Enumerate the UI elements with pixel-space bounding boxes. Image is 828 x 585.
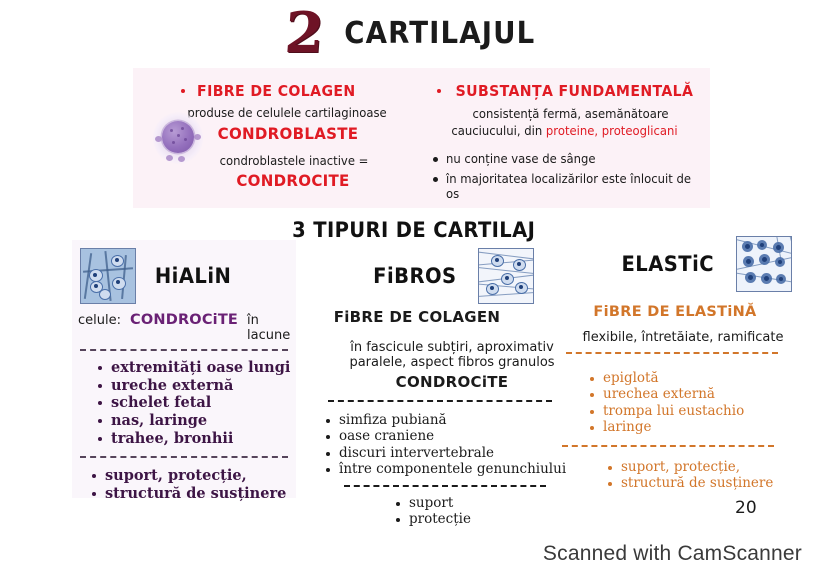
hialin-header: HiALiN [72,240,296,304]
fibre-colagen-heading-row: FIBRE DE COLAGEN [181,82,413,100]
list-item: între componentele genunchiului [326,461,586,477]
hialin-cells-row: celule: CONDROCiTE în lacune [72,304,296,343]
elastic-desc-line1: flexibile, întretăiate, ramificate [572,330,794,345]
list-item: suport, protecție, [92,467,296,485]
list-item: suport, protecție, [608,459,820,475]
condroblast-cell-icon [153,112,203,164]
substanta-bullet-2: în majoritatea localizărilor este înlocu… [433,171,710,201]
fibros-divider-1 [328,400,552,402]
condroblaste-label: CONDROBLASTE [171,124,406,143]
bullet-dot-icon [433,157,438,162]
slide-number-glyph: 2 [283,8,323,58]
fibros-subtitle: FiBRE DE COLAGEN [318,308,516,326]
list-item: suport [396,495,586,511]
page-title: 2 CARTILAJUL [0,8,828,58]
cartilaj-fibros-micrograph-icon [478,248,534,304]
hialin-cells-suffix: în lacune [247,313,296,343]
list-item: nas, laringe [98,412,296,430]
colagen-line1: produse de celulele cartilaginoase [170,105,404,120]
hialin-divider-2 [80,456,288,458]
intro-panel: FIBRE DE COLAGEN produse de celulele car… [133,68,710,208]
substanta-bullet-1: nu conține vase de sânge [433,151,710,166]
substanta-line1: consistență fermă, asemănătoare [441,106,700,121]
list-item: schelet fetal [98,394,296,412]
list-item: extremități oase lungi [98,359,296,377]
elastic-divider-2 [562,445,774,447]
condroblaste-inactive-line: condroblastele inactive = [183,153,404,168]
hialin-locations-list: extremități oase lungi ureche externă sc… [72,359,296,447]
fibros-cells-value: CONDROCiTE [318,373,586,391]
substanta-fundamentala-heading: SUBSTANȚA FUNDAMENTALĂ [456,82,694,100]
substanta-line2-prefix: cauciucului, din [451,123,546,138]
cartilaj-elastic-micrograph-icon [736,236,792,292]
fibros-title: FiBROS [370,264,460,288]
condrocite-label: CONDROCITE [180,171,406,190]
fibre-colagen-heading: FIBRE DE COLAGEN [197,82,356,100]
section-heading-text: 3 TIPURI DE CARTILAJ [292,218,535,242]
page-title-text: CARTILAJUL [344,16,535,51]
bullet-dot-icon [181,89,185,93]
hialin-cells-value: CONDROCiTE [130,312,238,328]
column-elastic: ELASTiC [590,236,820,498]
elastic-title: ELASTiC [618,252,718,276]
list-item: trahee, bronhii [98,430,296,448]
list-item: structură de susținere [608,475,820,491]
substanta-line2: cauciucului, din proteine, proteoglicani [429,123,700,138]
elastic-header: ELASTiC [590,236,820,292]
list-item: ureche externă [98,377,296,395]
fibros-divider-2 [344,485,546,487]
hialin-functions-list: suport, protecție, structură de susținer… [72,467,296,502]
intro-right-column: SUBSTANȚA FUNDAMENTALĂ consistență fermă… [413,68,710,208]
list-item: protecție [396,511,586,527]
hialin-cells-label: celule: [78,313,121,328]
bullet-dot-icon [433,177,438,182]
list-item: oase craniene [326,428,586,444]
hialin-title: HiALiN [152,264,234,288]
list-item: trompa lui eustachio [590,403,820,419]
elastic-locations-list: epiglotă urechea externă trompa lui eust… [590,370,820,436]
elastic-subtitle: FiBRE DE ELASTiNĂ [590,304,760,320]
list-item: discuri intervertebrale [326,445,586,461]
elastic-functions-list: suport, protecție, structură de susținer… [590,459,820,492]
camscanner-watermark: Scanned with CamScanner [0,542,828,566]
substanta-bullet-2-text: în majoritatea localizărilor este înlocu… [446,171,692,201]
fibros-functions-list: suport protecție [318,495,586,528]
list-item: epiglotă [590,370,820,386]
list-item: laringe [590,419,820,435]
substanta-bullet-1-text: nu conține vase de sânge [446,151,596,166]
fibros-desc-line2: paralele, aspect fibros granulos [318,355,586,370]
intro-left-column: FIBRE DE COLAGEN produse de celulele car… [133,68,413,208]
elastic-divider-1 [566,352,778,354]
page-number: 20 [735,498,757,518]
hialin-divider-1 [80,349,288,351]
cell-nucleus [162,121,194,153]
fibros-header: FiBROS [318,248,586,304]
fibros-desc-line1: în fascicule subțiri, aproximativ [318,340,586,355]
column-hialin: HiALiN celule: CONDROCiTE în lacune extr… [72,240,296,498]
substanta-line2-red: proteine, proteoglicani [546,123,678,138]
cartilaj-hialin-micrograph-icon [80,248,136,304]
list-item: simfiza pubiană [326,412,586,428]
bullet-dot-icon [437,89,441,93]
substanta-heading-row: SUBSTANȚA FUNDAMENTALĂ [437,82,710,100]
column-fibros: FiBROS FiBRE DE COLAGEN în [318,248,586,506]
list-item: urechea externă [590,386,820,402]
slide-page: 2 CARTILAJUL FIBRE DE COLAGEN produse de… [0,0,828,585]
fibros-locations-list: simfiza pubiană oase craniene discuri in… [318,412,586,478]
list-item: structură de susținere [92,485,296,503]
